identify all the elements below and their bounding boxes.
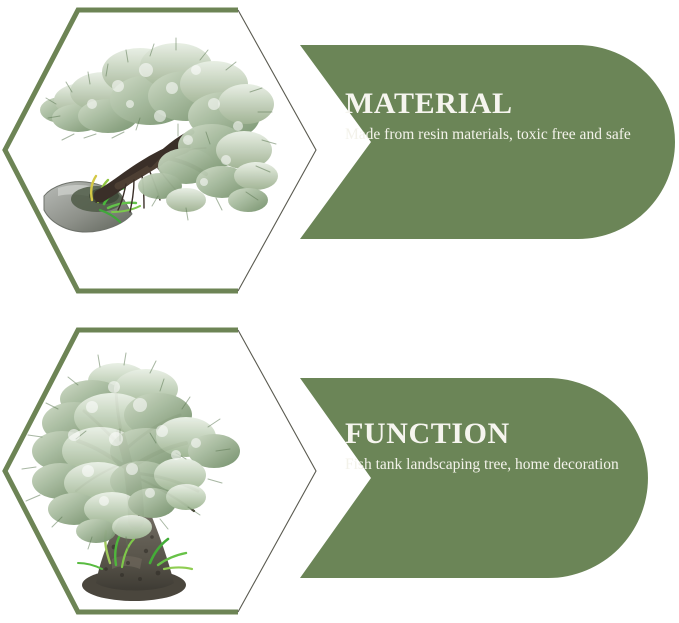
feature-text-material: MATERIAL Made from resin materials, toxi…: [345, 88, 645, 146]
feature-description-material: Made from resin materials, toxic free an…: [345, 124, 635, 146]
feature-text-function: FUNCTION Fish tank landscaping tree, hom…: [345, 418, 645, 476]
feature-title-function: FUNCTION: [345, 418, 645, 450]
feature-description-function: Fish tank landscaping tree, home decorat…: [345, 454, 635, 476]
feature-title-material: MATERIAL: [345, 88, 645, 120]
hexagon-frame-material: [0, 0, 679, 311]
infographic-canvas: MATERIAL Made from resin materials, toxi…: [0, 0, 679, 623]
feature-panel-function: FUNCTION Fish tank landscaping tree, hom…: [0, 311, 679, 622]
feature-panel-material: MATERIAL Made from resin materials, toxi…: [0, 0, 679, 311]
